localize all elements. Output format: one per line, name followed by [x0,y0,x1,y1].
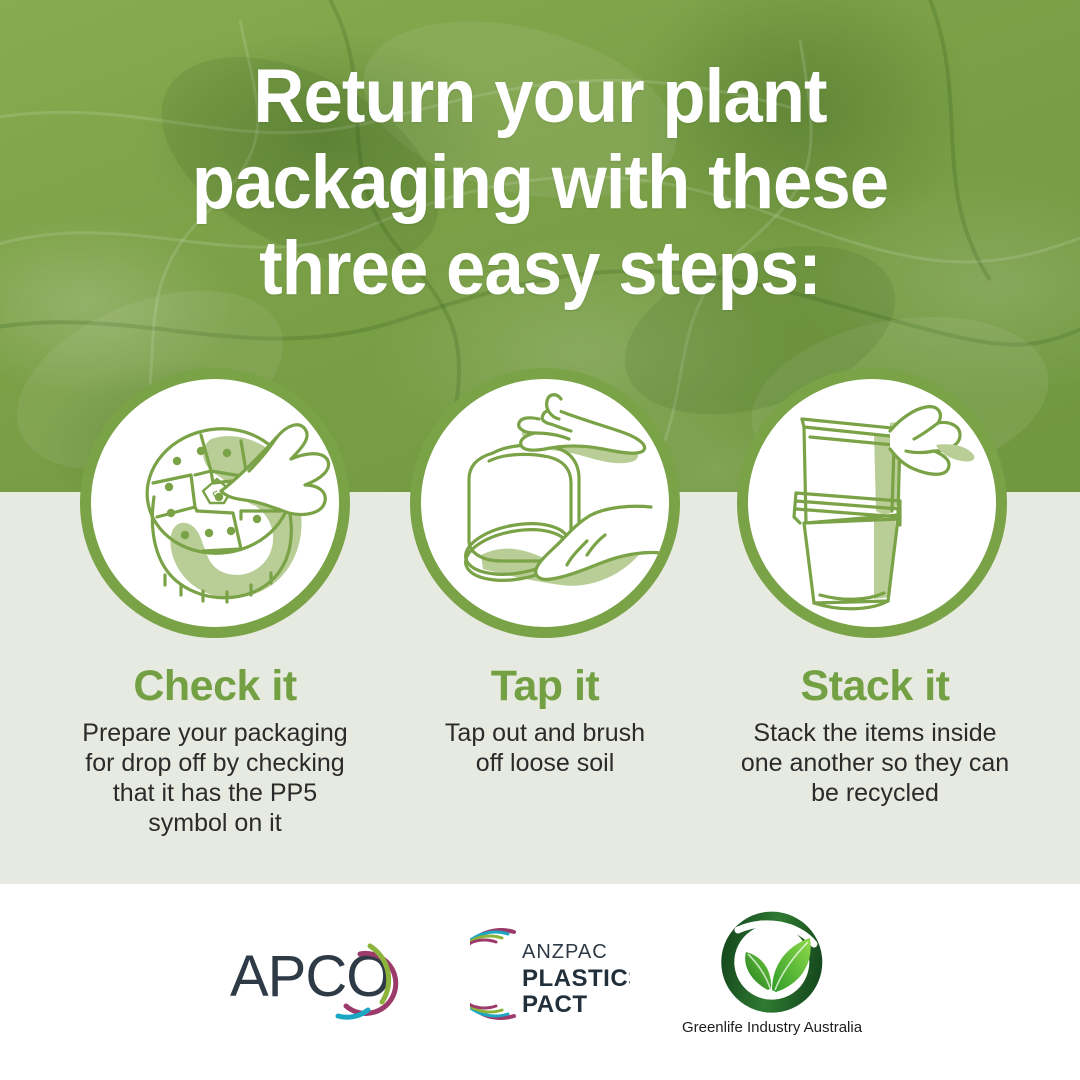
poster-root: Return your plant packaging with these t… [0,0,1080,1080]
step-body-stack: Stack the items inside one another so th… [700,718,1050,808]
step-block-stack: Stack it Stack the items inside one anot… [700,662,1050,808]
anzpac-plastics-pact-logo: ANZPAC PLASTICS PACT [470,920,630,1033]
anzpac-line-1: ANZPAC [522,941,608,963]
stacked-pots-icon [748,379,996,627]
tap-pot-icon [421,379,669,627]
greenlife-caption: Greenlife Industry Australia [682,1019,863,1036]
step-icon-circle-stack [737,368,1007,638]
step-body-check: Prepare your packaging for drop off by c… [40,718,390,838]
pot-base-check-icon: 5 [91,379,339,627]
step-body-tap: Tap out and brush off loose soil [400,718,690,778]
step-block-check: Check it Prepare your packaging for drop… [40,662,390,838]
step-icon-circle-tap [410,368,680,638]
greenlife-industry-australia-logo: Greenlife Industry Australia [672,908,872,1045]
greenlife-leaf-left [745,952,771,990]
page-title: Return your plant packaging with these t… [38,54,1042,312]
anzpac-line-2: PLASTICS [522,965,630,992]
step-title-check: Check it [40,662,390,710]
step-title-stack: Stack it [700,662,1050,710]
anzpac-line-3: PACT [522,991,588,1018]
step-block-tap: Tap it Tap out and brush off loose soil [400,662,690,778]
step-icon-circle-check: 5 [80,368,350,638]
apco-logo: APCO [228,930,408,1031]
step-title-tap: Tap it [400,662,690,710]
